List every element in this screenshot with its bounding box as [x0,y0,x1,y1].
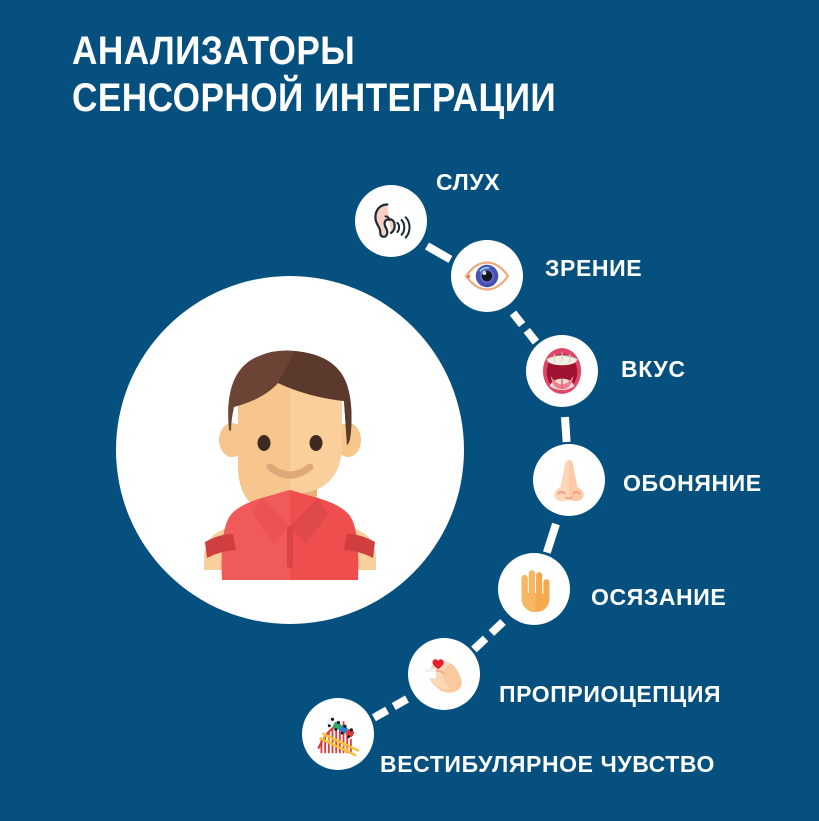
boy-avatar-svg [160,320,420,580]
avatar [116,276,464,624]
sense-node-touch[interactable] [498,553,570,625]
hand-icon[interactable] [498,553,570,625]
sense-node-vestibular[interactable] [302,698,374,770]
connector-smell-to-touch [543,523,560,554]
title-line-2: СЕНСОРНОЙ ИНТЕГРАЦИИ [72,75,618,122]
sense-label-vision: ЗРЕНИЕ [545,255,642,282]
connector-hearing-to-vision [425,242,452,262]
ear-icon[interactable] [355,185,427,257]
sense-node-vision[interactable] [451,240,523,312]
sense-label-hearing: СЛУХ [436,169,500,196]
nose-icon[interactable] [533,444,605,516]
sense-label-smell: ОБОНЯНИЕ [623,470,762,497]
title-line-1: АНАЛИЗАТОРЫ [72,28,618,75]
flexed-bicep-icon[interactable] [408,638,480,710]
boy-avatar-illustration [160,320,420,580]
sense-label-vestibular: ВЕСТИБУЛЯРНОЕ ЧУВСТВО [380,751,715,778]
sense-label-touch: ОСЯЗАНИЕ [591,584,726,611]
connector-taste-to-smell [561,417,571,443]
sense-label-taste: ВКУС [621,356,686,383]
sense-node-taste[interactable] [526,335,598,407]
mouth-icon[interactable] [526,335,598,407]
sense-node-proprioception[interactable] [408,638,480,710]
roller-coaster-icon[interactable] [302,698,374,770]
eye-icon[interactable] [451,240,523,312]
sense-node-smell[interactable] [533,444,605,516]
connector-proprioception-to-vestibular [373,695,410,721]
sense-label-proprioception: ПРОПРИОЦЕПЦИЯ [499,681,721,708]
page-title: АНАЛИЗАТОРЫ СЕНСОРНОЙ ИНТЕГРАЦИИ [72,28,692,122]
sense-node-hearing[interactable] [355,185,427,257]
infographic-poster: АНАЛИЗАТОРЫ СЕНСОРНОЙ ИНТЕГРАЦИИ [0,0,819,821]
